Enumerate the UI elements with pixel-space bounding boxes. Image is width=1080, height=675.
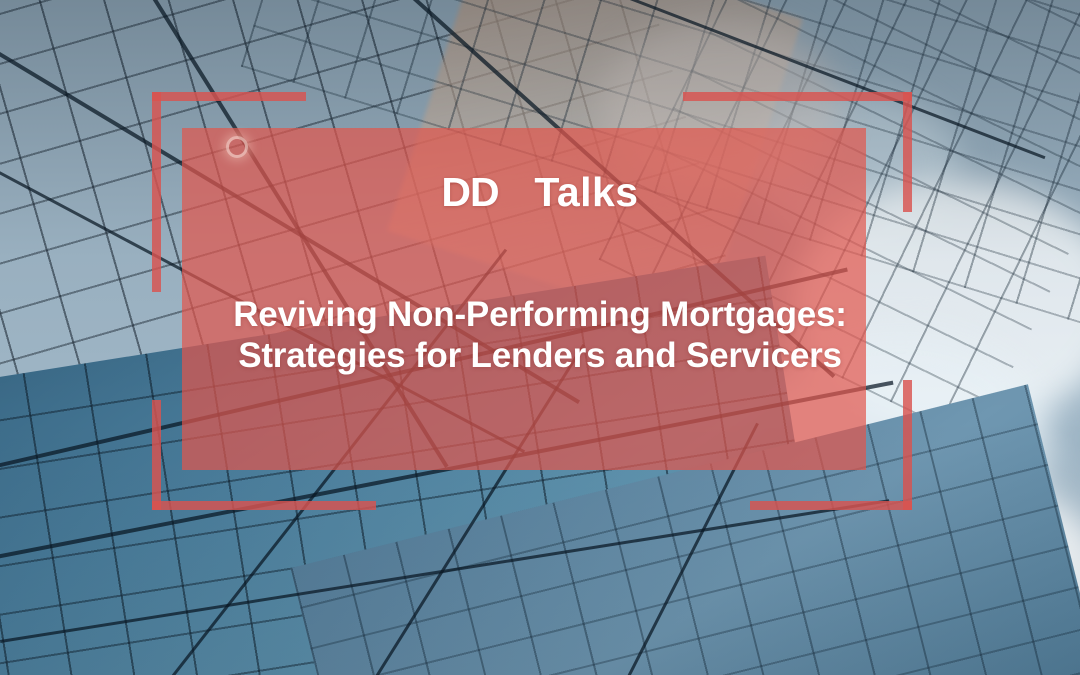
brand-prefix: DD bbox=[441, 169, 498, 215]
frame-bottom-right-vertical bbox=[903, 380, 912, 510]
frame-bottom-right-horizontal bbox=[750, 501, 912, 510]
frame-top-left-horizontal bbox=[152, 92, 306, 101]
brand-suffix: Talks bbox=[534, 169, 638, 215]
headline: Reviving Non-Performing Mortgages: Strat… bbox=[60, 294, 1020, 377]
frame-bottom-left-vertical bbox=[152, 400, 161, 510]
brand-spacer bbox=[511, 169, 523, 215]
brand-title: DD Talks bbox=[0, 172, 1080, 213]
headline-line-1: Reviving Non-Performing Mortgages: bbox=[60, 294, 1020, 335]
frame-bottom-left-horizontal bbox=[152, 501, 376, 510]
headline-line-2: Strategies for Lenders and Servicers bbox=[60, 335, 1020, 376]
title-card: DD Talks Reviving Non-Performing Mortgag… bbox=[0, 0, 1080, 675]
lens-flare-icon bbox=[226, 136, 248, 158]
frame-top-right-horizontal bbox=[683, 92, 912, 101]
